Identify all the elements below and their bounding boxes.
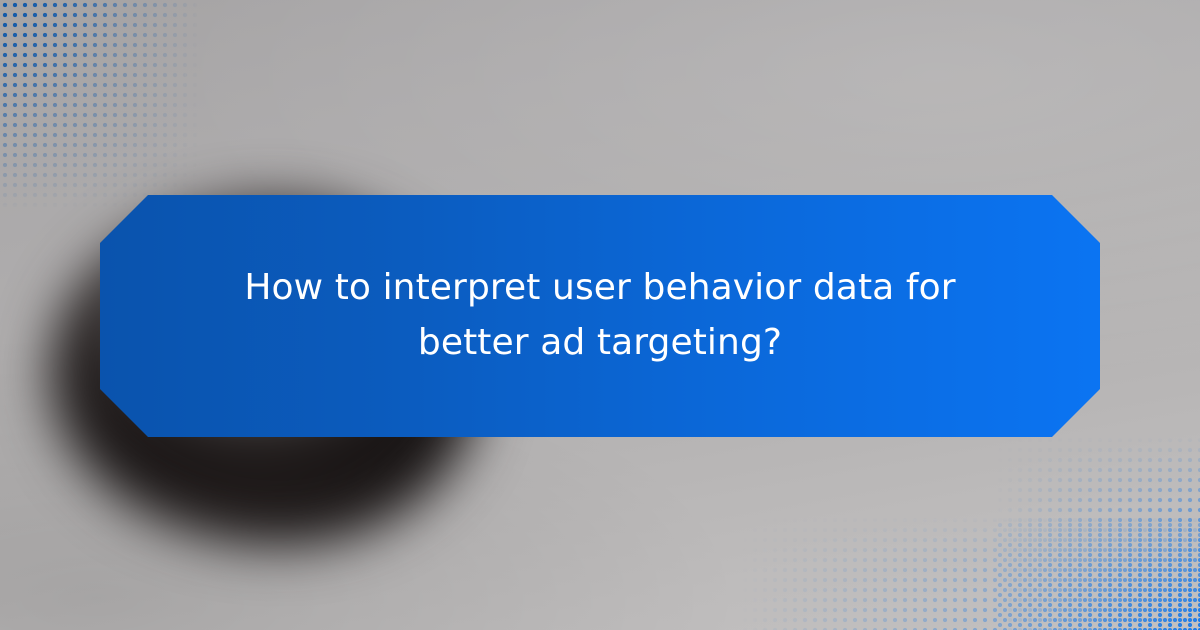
social-card-canvas: How to interpret user behavior data for … [0,0,1200,630]
halftone-dot-pattern-bottom-right [995,435,1200,630]
halftone-dot-pattern-top-left [0,0,200,210]
title-banner: How to interpret user behavior data for … [100,195,1100,437]
halftone-dot-pattern-bottom-strip [740,515,1200,630]
object-drop-shadow [30,433,500,553]
page-title: How to interpret user behavior data for … [200,261,1000,370]
halftone-dot-pattern-bottom-right-dense [995,520,1200,630]
halftone-dot-pattern-top-left-dense [0,0,120,120]
